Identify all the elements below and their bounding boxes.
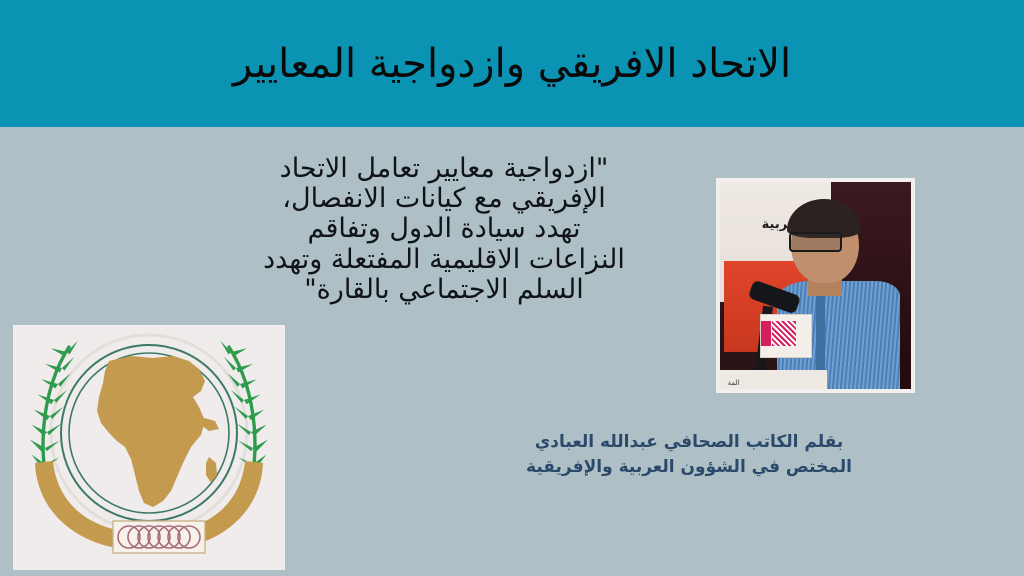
speaker-photo-scene: غربية المة bbox=[720, 182, 911, 389]
presentation-slide: الاتحاد الافريقي وازدواجية المعايير "ازد… bbox=[0, 0, 1024, 576]
photo-microphone-flag-logo bbox=[772, 321, 797, 346]
african-union-logo bbox=[13, 325, 285, 570]
byline-author: بقلم الكاتب الصحافي عبدالله العبادي bbox=[479, 430, 899, 455]
page-title: الاتحاد الافريقي وازدواجية المعايير bbox=[0, 0, 1024, 127]
glasses-icon bbox=[789, 232, 843, 253]
byline-specialty: المختص في الشؤون العربية والإفريقية bbox=[479, 455, 899, 480]
african-union-emblem-icon bbox=[13, 325, 285, 570]
byline: بقلم الكاتب الصحافي عبدالله العبادي المخ… bbox=[479, 430, 899, 479]
photo-bottom-text: المة bbox=[728, 379, 740, 387]
speaker-photo: غربية المة bbox=[716, 178, 915, 393]
photo-microphone-flag-logo-left bbox=[761, 321, 771, 346]
quote-text: "ازدواجية معايير تعامل الاتحاد الإفريقي … bbox=[258, 154, 630, 305]
